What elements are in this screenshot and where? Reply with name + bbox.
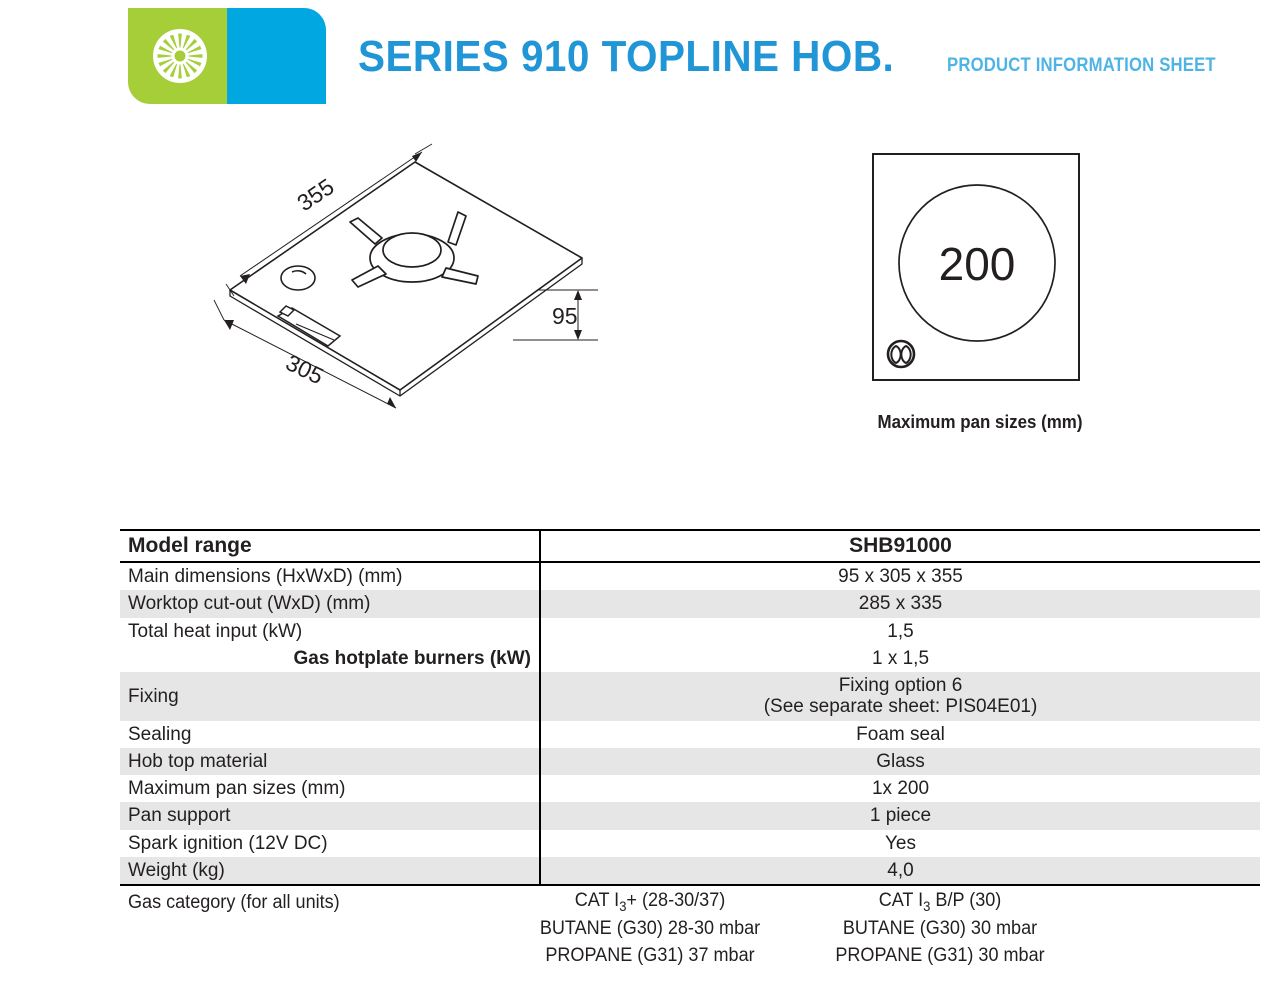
table-row-value: Yes <box>540 830 1260 857</box>
table-row: Weight (kg)4,0 <box>120 857 1260 885</box>
table-row-value: 1x 200 <box>540 775 1260 802</box>
logo-blue-tile <box>227 8 326 104</box>
table-header-label: Model range <box>120 530 540 562</box>
table-header-value: SHB91000 <box>540 530 1260 562</box>
gas-category-label: Gas category (for all units) <box>128 892 340 914</box>
specification-table: Model range SHB91000 Main dimensions (Hx… <box>120 529 1260 886</box>
pan-size-label: 200 <box>939 238 1016 290</box>
page-header: SERIES 910 TOPLINE HOB.PRODUCT INFORMATI… <box>0 0 1280 112</box>
table-row: Spark ignition (12V DC)Yes <box>120 830 1260 857</box>
table-row: Pan support1 piece <box>120 802 1260 829</box>
table-header-row: Model range SHB91000 <box>120 530 1260 562</box>
gas-butane-line-1: BUTANE (G30) 28-30 mbar <box>508 916 793 943</box>
table-row-value: 285 x 335 <box>540 590 1260 617</box>
table-row-label: Weight (kg) <box>120 857 540 885</box>
brand-logo <box>128 8 326 104</box>
control-knob-icon <box>888 341 914 367</box>
table-row-value: 1 x 1,5 <box>540 645 1260 672</box>
dimension-label-305: 305 <box>282 349 328 389</box>
page-subtitle: PRODUCT INFORMATION SHEET <box>947 55 1216 77</box>
table-row-value: 95 x 305 x 355 <box>540 562 1260 590</box>
pan-diagram-caption: Maximum pan sizes (mm) <box>863 412 1098 433</box>
gas-category-column-2: CAT I3 B/P (30) BUTANE (G30) 30 mbar PRO… <box>790 888 1090 970</box>
table-row-value: Fixing option 6(See separate sheet: PIS0… <box>540 672 1260 721</box>
page-title: SERIES 910 TOPLINE HOB. <box>358 32 894 82</box>
table-row-label: Spark ignition (12V DC) <box>120 830 540 857</box>
table-row: Total heat input (kW)1,5 <box>120 618 1260 645</box>
dimension-label-95: 95 <box>552 303 578 329</box>
table-row-label: Hob top material <box>120 748 540 775</box>
table-row: Maximum pan sizes (mm)1x 200 <box>120 775 1260 802</box>
table-row: FixingFixing option 6(See separate sheet… <box>120 672 1260 721</box>
table-row-value: 1 piece <box>540 802 1260 829</box>
max-pan-size-diagram: 200 <box>855 150 1105 440</box>
specification-table-body: Model range SHB91000 Main dimensions (Hx… <box>120 530 1260 885</box>
gas-cat-line-2: CAT I3 B/P (30) <box>798 888 1083 916</box>
gas-butane-line-2: BUTANE (G30) 30 mbar <box>798 916 1083 943</box>
gas-cat-line-1: CAT I3+ (28-30/37) <box>508 888 793 916</box>
ignition-button-graphic <box>281 266 315 290</box>
table-row-label: Worktop cut-out (WxD) (mm) <box>120 590 540 617</box>
table-row-label: Main dimensions (HxWxD) (mm) <box>120 562 540 590</box>
table-row: SealingFoam seal <box>120 721 1260 748</box>
table-row-label: Total heat input (kW) <box>120 618 540 645</box>
dimension-label-355: 355 <box>292 173 338 216</box>
hob-isometric-drawing: 355 305 95 <box>200 140 620 410</box>
gas-category-column-1: CAT I3+ (28-30/37) BUTANE (G30) 28-30 mb… <box>500 888 800 970</box>
table-row-label: Gas hotplate burners (kW) <box>120 645 540 672</box>
table-row-value: Glass <box>540 748 1260 775</box>
table-row-label: Maximum pan sizes (mm) <box>120 775 540 802</box>
table-row-label: Pan support <box>120 802 540 829</box>
gas-propane-line-1: PROPANE (G31) 37 mbar <box>508 943 793 970</box>
table-row: Main dimensions (HxWxD) (mm)95 x 305 x 3… <box>120 562 1260 590</box>
table-row-value: Foam seal <box>540 721 1260 748</box>
table-row-label: Sealing <box>120 721 540 748</box>
sunburst-icon <box>152 28 208 84</box>
title-block: SERIES 910 TOPLINE HOB.PRODUCT INFORMATI… <box>358 32 1258 92</box>
gas-propane-line-2: PROPANE (G31) 30 mbar <box>798 943 1083 970</box>
table-row-label: Fixing <box>120 672 540 721</box>
technical-drawings: 355 305 95 200 Maximum pan sizes (mm) <box>0 130 1280 450</box>
table-row-value: 4,0 <box>540 857 1260 885</box>
table-row: Gas hotplate burners (kW)1 x 1,5 <box>120 645 1260 672</box>
table-row: Hob top materialGlass <box>120 748 1260 775</box>
table-row: Worktop cut-out (WxD) (mm)285 x 335 <box>120 590 1260 617</box>
gas-category-footer: Gas category (for all units) CAT I3+ (28… <box>120 888 1260 978</box>
table-row-value: 1,5 <box>540 618 1260 645</box>
